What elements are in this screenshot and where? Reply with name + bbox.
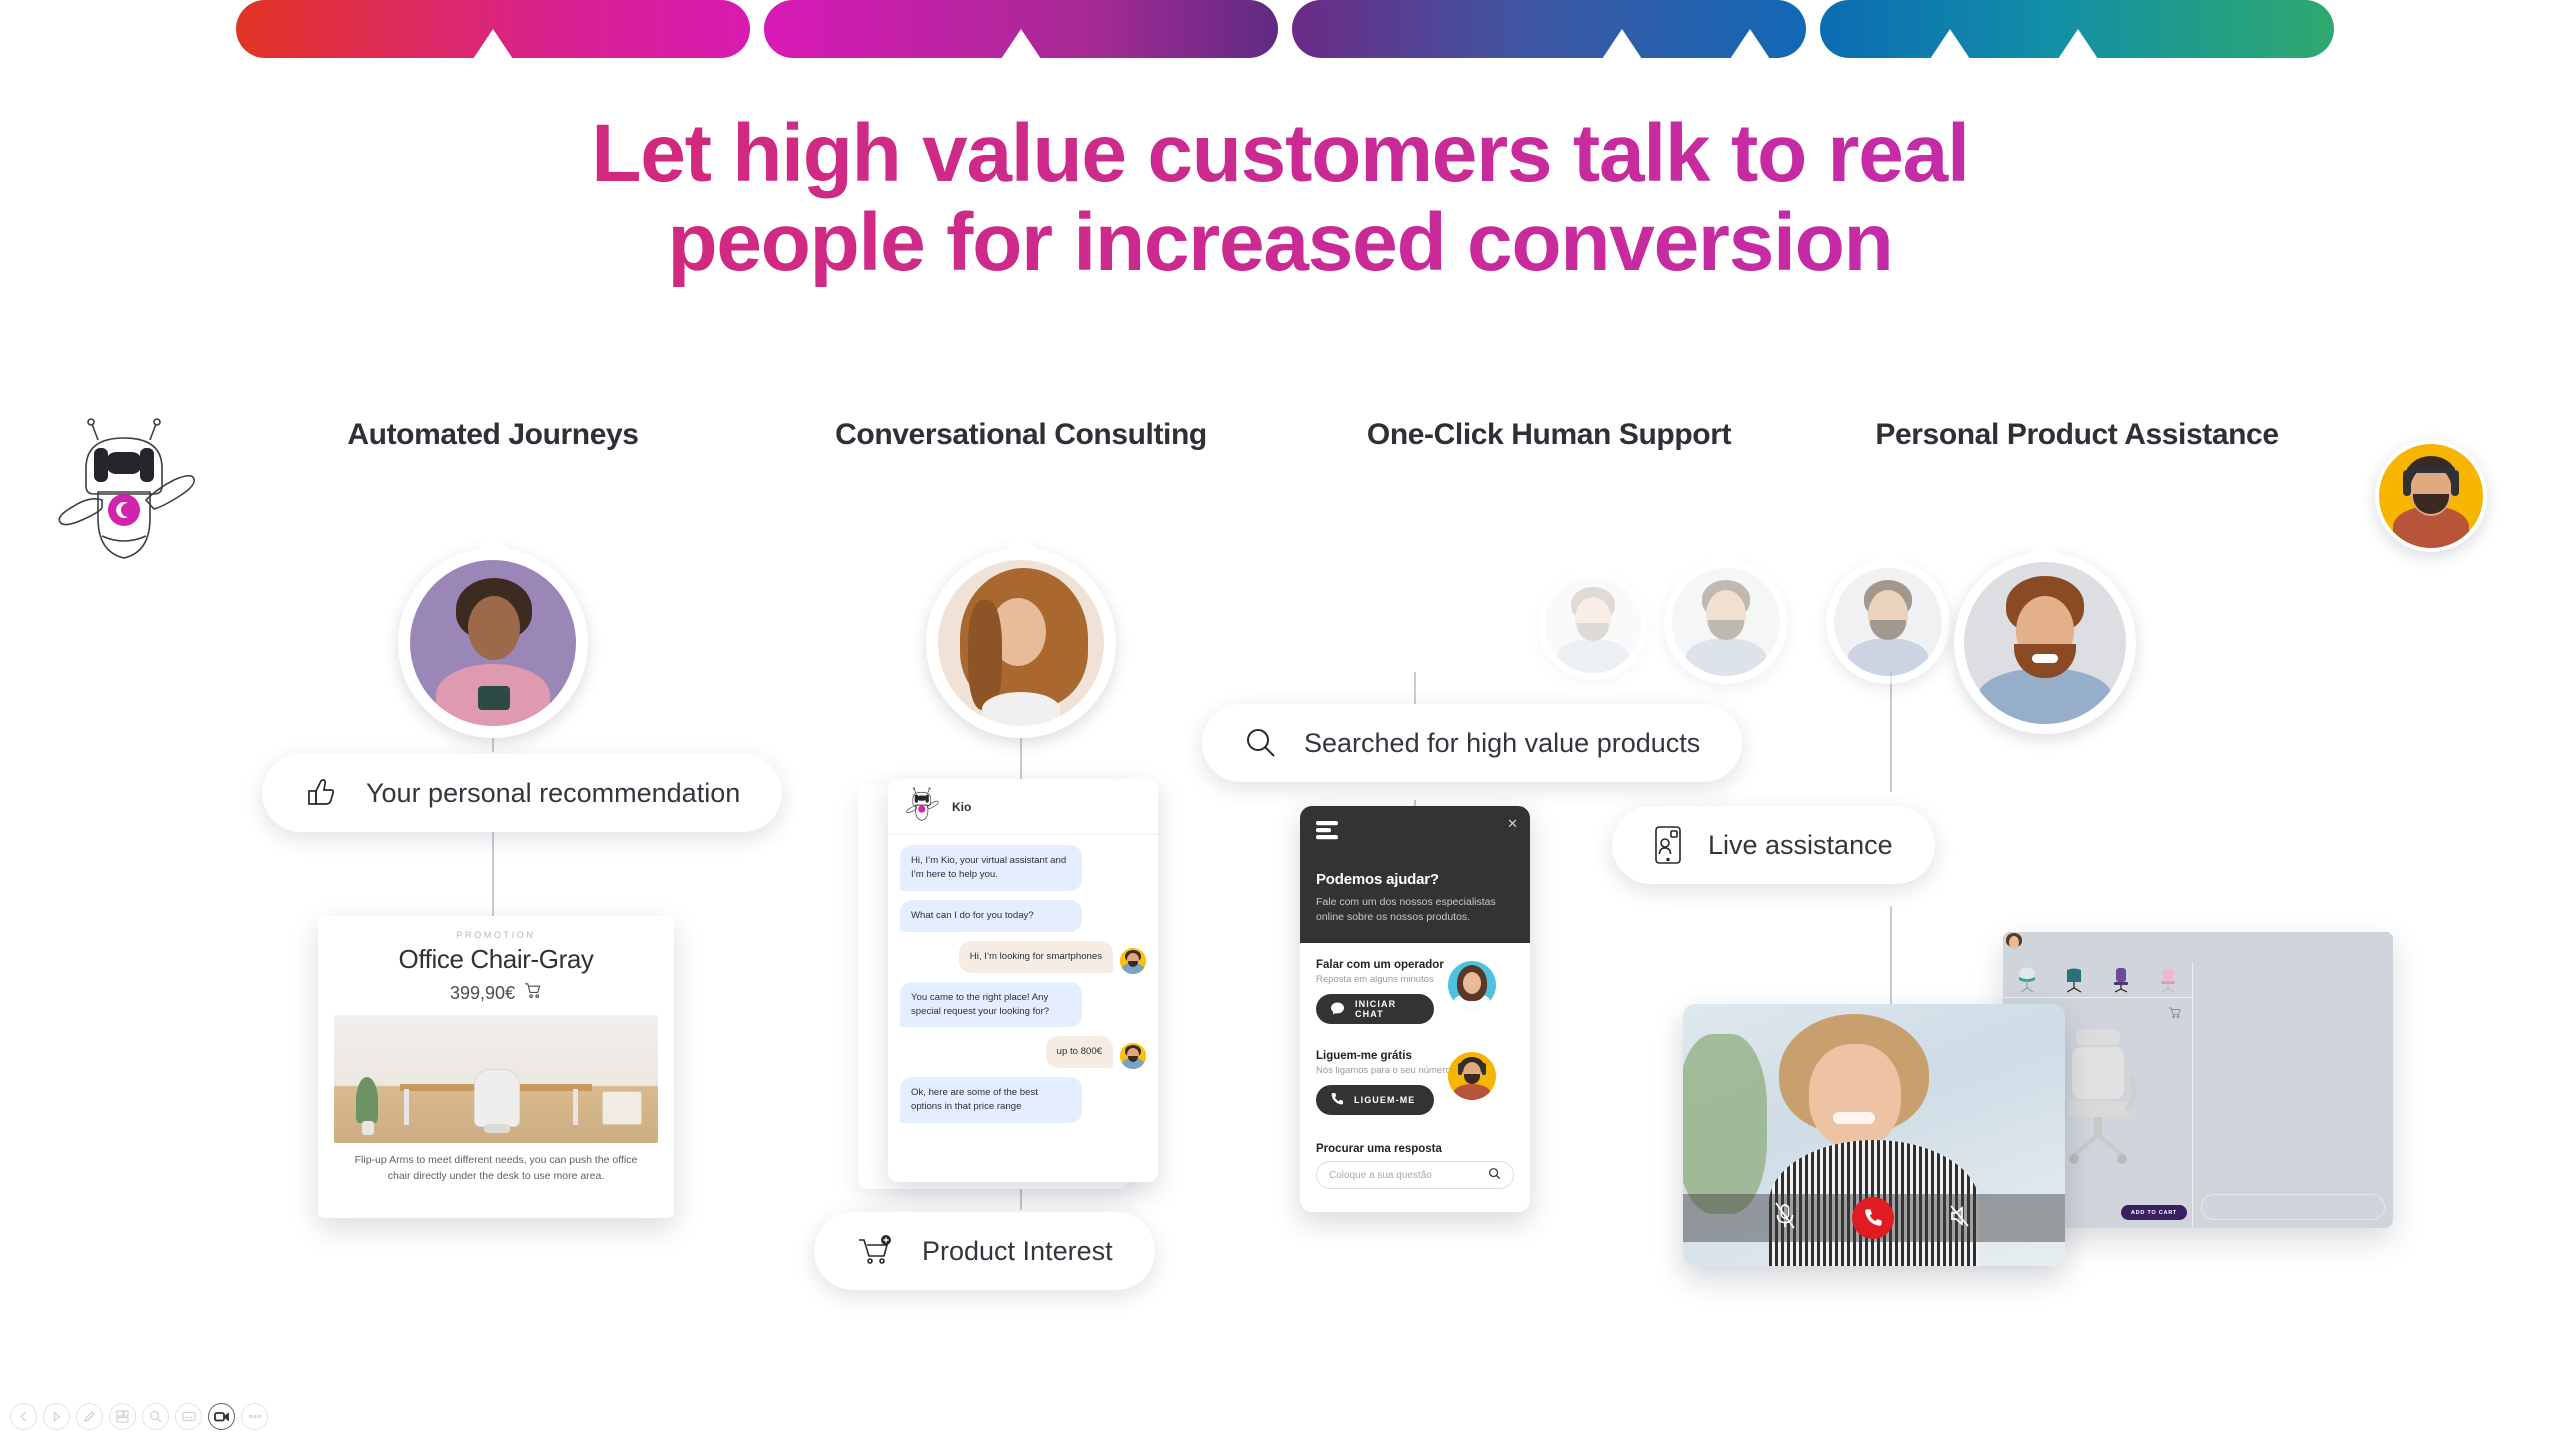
avatar-pointer	[1868, 544, 1908, 566]
chat-message-row-user: Hi, I’m looking for smartphones	[900, 941, 1146, 982]
headline-line-1: Let high value customers talk to real	[591, 108, 1968, 199]
support-widget-header: ✕ Podemos ajudar? Fale com um dos nossos…	[1300, 806, 1530, 943]
avatar-pointer	[1573, 554, 1613, 576]
headline-line-2: people for increased conversion	[0, 199, 2560, 288]
product-name: Office Chair-Gray	[334, 944, 658, 975]
connector-line	[492, 828, 494, 918]
video-icon[interactable]	[208, 1403, 235, 1430]
avatar-agent-active	[1954, 552, 2136, 734]
avatar-customer-1	[398, 548, 588, 738]
mic-muted-icon[interactable]	[1772, 1201, 1798, 1236]
chat-header: Kio	[888, 779, 1158, 835]
progress-bar-automated-journeys	[236, 0, 750, 58]
answer-search-placeholder: Coloque a sua questão	[1329, 1170, 1432, 1181]
pill-searched-products[interactable]: Searched for high value products	[1202, 704, 1742, 782]
product-image	[334, 1015, 658, 1143]
product-promotion-card[interactable]: PROMOTION Office Chair-Gray 399,90€ Flip…	[318, 916, 674, 1218]
hamburger-icon[interactable]	[1316, 827, 1342, 844]
add-to-cart-icon	[856, 1233, 896, 1269]
progress-bar-conversational-consulting	[764, 0, 1278, 58]
headset-agent-avatar	[2375, 440, 2487, 552]
pill-live-assistance[interactable]: Live assistance	[1612, 806, 1935, 884]
avatar-operator-male	[1448, 1052, 1496, 1100]
product-price-row: 399,90€	[334, 981, 658, 1005]
play-icon[interactable]	[43, 1403, 70, 1430]
prev-slide-icon[interactable]	[10, 1403, 37, 1430]
thumbs-up-icon	[304, 775, 340, 811]
thumb-chair-4[interactable]	[2145, 962, 2192, 997]
video-call-window[interactable]	[1683, 1004, 2065, 1266]
callback-block: Liguem-me grátis Nós ligamos para o seu …	[1316, 1050, 1514, 1115]
page-title: Let high value customers talk to real pe…	[0, 110, 2560, 287]
more-icon[interactable]	[241, 1403, 268, 1430]
chat-messages: Hi, I’m Kio, your virtual assistant and …	[888, 835, 1158, 1142]
pill-label: Live assistance	[1708, 830, 1893, 861]
column-title-conversational-consulting: Conversational Consulting	[764, 418, 1278, 452]
bar-notch	[1001, 29, 1041, 59]
bar-notch	[473, 29, 513, 59]
call-me-label: LIGUEM-ME	[1354, 1095, 1415, 1105]
chat-message-bot: What can I do for you today?	[900, 900, 1082, 932]
avatar-operator-female	[1448, 961, 1496, 1009]
connector-line	[1890, 672, 1892, 792]
column-title-one-click-human-support: One-Click Human Support	[1292, 418, 1806, 452]
product-price: 399,90€	[450, 983, 515, 1004]
answer-search-input[interactable]: Coloque a sua questão	[1316, 1161, 1514, 1189]
robot-mascot-icon	[40, 408, 210, 573]
avatar	[2328, 936, 2350, 958]
avatar-agent-ghost-1	[1538, 570, 1648, 680]
bar-notch	[1930, 29, 1970, 59]
avatar-pointer	[473, 532, 513, 554]
chat-message-bot: Hi, I’m Kio, your virtual assistant and …	[900, 845, 1082, 891]
chat-bubble-icon	[1330, 1001, 1345, 1018]
pill-label: Searched for high value products	[1304, 728, 1700, 759]
search-icon[interactable]	[1488, 1167, 1501, 1183]
column-title-automated-journeys: Automated Journeys	[236, 418, 750, 452]
phone-hangup-icon[interactable]	[1852, 1197, 1894, 1239]
chat-message-bot: You came to the right place! Any special…	[900, 982, 1082, 1028]
pill-label: Your personal recommendation	[366, 778, 740, 809]
avatar-agent-ghost-2	[1664, 560, 1788, 684]
avatar	[1120, 1043, 1146, 1069]
presentation-toolbar[interactable]	[10, 1403, 268, 1430]
chat-message-bot: Ok, here are some of the best options in…	[900, 1077, 1082, 1123]
search-icon	[1244, 726, 1278, 760]
connector-line	[1890, 906, 1892, 1016]
product-promo-label: PROMOTION	[334, 930, 658, 940]
support-widget-body: Falar com um operador Reposta em alguns …	[1300, 943, 1530, 1199]
chat-message-user: up to 800€	[1046, 1036, 1113, 1068]
video-person-icon	[1654, 825, 1682, 865]
chat-widget[interactable]: Kio Hi, I’m Kio, your virtual assistant …	[888, 779, 1158, 1182]
robot-mascot-icon	[902, 785, 942, 828]
avatar-pointer	[1706, 544, 1746, 566]
bar-notch	[1602, 29, 1642, 59]
avatar	[1120, 948, 1146, 974]
video-call-controls[interactable]	[1683, 1194, 2065, 1242]
product-description: Flip-up Arms to meet different needs, yo…	[334, 1153, 658, 1185]
bar-notch	[1730, 29, 1770, 59]
thumb-chair-1[interactable]	[2003, 962, 2050, 997]
live-chat-agent: Live chat Jane	[2328, 936, 2383, 958]
operator-block: Falar com um operador Reposta em alguns …	[1316, 959, 1514, 1024]
thumb-chair-3[interactable]	[2098, 962, 2145, 997]
thumb-chair-2[interactable]	[2050, 962, 2097, 997]
zoom-icon[interactable]	[142, 1403, 169, 1430]
chat-message-row-user: up to 800€	[900, 1036, 1146, 1077]
pill-product-interest[interactable]: Product Interest	[814, 1212, 1155, 1290]
speaker-muted-icon[interactable]	[1948, 1203, 1976, 1234]
avatar-agent-ghost-3	[1826, 560, 1950, 684]
support-subheading: Fale com um dos nossos especialistas onl…	[1316, 895, 1514, 925]
avatar-pointer	[1001, 532, 1041, 554]
cart-icon[interactable]	[523, 981, 542, 1005]
chat-message-user: Hi, I’m looking for smartphones	[959, 941, 1113, 973]
slide-canvas: Let high value customers talk to real pe…	[0, 0, 2560, 1440]
support-widget[interactable]: ✕ Podemos ajudar? Fale com um dos nossos…	[1300, 806, 1530, 1212]
phone-icon	[1330, 1092, 1344, 1108]
answer-search-title: Procurar uma resposta	[1316, 1143, 1514, 1155]
avatar-customer-2	[926, 548, 1116, 738]
browser-topbar: 24 3 2	[2003, 932, 2393, 962]
support-heading: Podemos ajudar?	[1316, 871, 1514, 888]
pill-personal-recommendation[interactable]: Your personal recommendation	[262, 754, 782, 832]
answer-search-block: Procurar uma resposta Coloque a sua ques…	[1316, 1143, 1514, 1189]
product-thumbnails[interactable]	[2003, 962, 2192, 998]
progress-bar-one-click-human-support	[1292, 0, 1806, 58]
captions-icon[interactable]	[175, 1403, 202, 1430]
progress-bar-personal-product-assistance	[1820, 0, 2334, 58]
column-title-personal-product-assistance: Personal Product Assistance	[1820, 418, 2334, 452]
chat-input[interactable]	[2201, 1194, 2385, 1220]
pen-icon[interactable]	[76, 1403, 103, 1430]
start-chat-button[interactable]: INICIAR CHAT	[1316, 994, 1434, 1024]
slides-grid-icon[interactable]	[109, 1403, 136, 1430]
add-to-cart-button[interactable]: ADD TO CART	[2121, 1205, 2187, 1220]
close-icon[interactable]: ✕	[1507, 816, 1518, 832]
start-chat-label: INICIAR CHAT	[1355, 999, 1420, 1019]
avatar-pointer	[2025, 536, 2065, 558]
call-me-button[interactable]: LIGUEM-ME	[1316, 1085, 1434, 1115]
pill-label: Product Interest	[922, 1236, 1113, 1267]
bar-notch	[2058, 29, 2098, 59]
chat-bot-name: Kio	[952, 800, 971, 814]
